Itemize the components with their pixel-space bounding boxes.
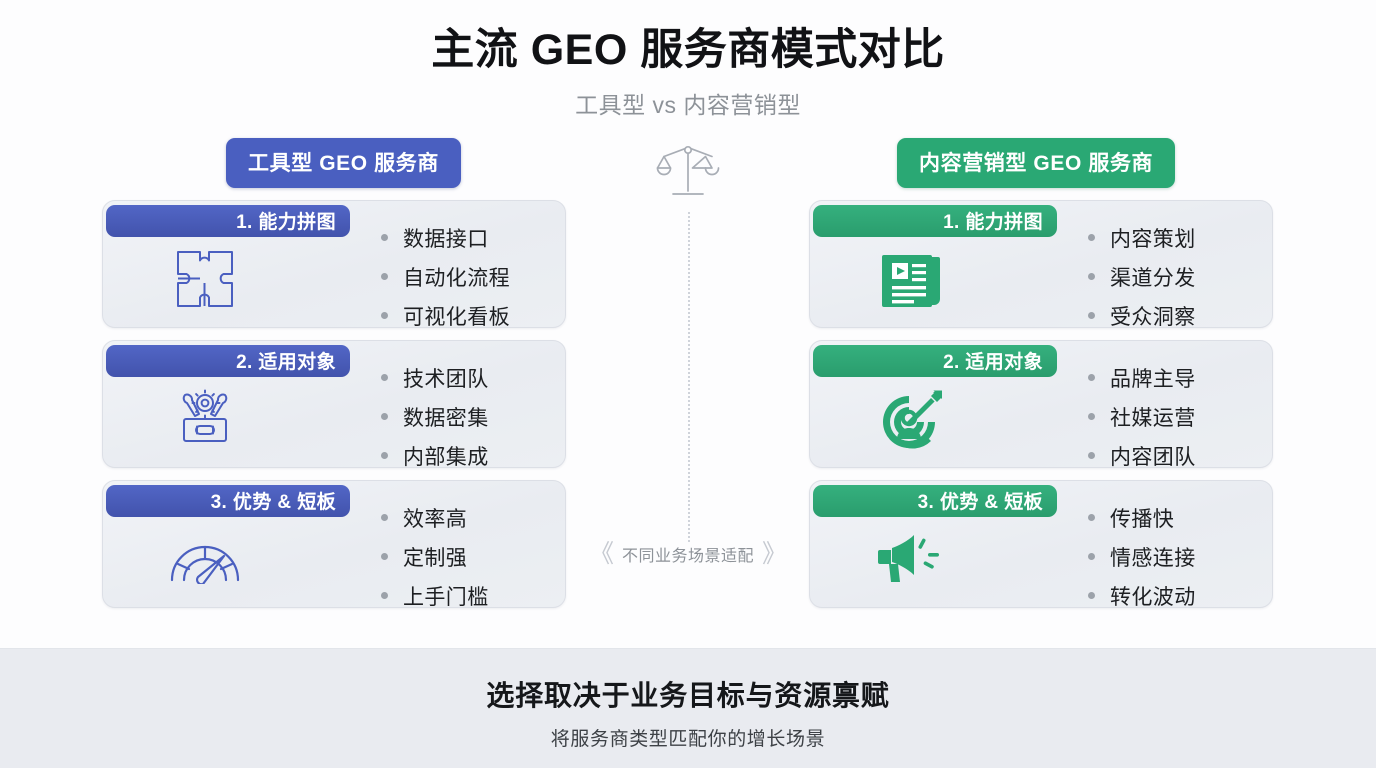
list-item: 效率高 (381, 503, 489, 533)
list-item: 内部集成 (381, 441, 489, 468)
bullet-label: 社媒运营 (1110, 402, 1196, 432)
puzzle-icon (163, 243, 247, 315)
bullet-dot-icon (1088, 514, 1095, 521)
card-heading: 1. 能力拼图 (106, 205, 350, 237)
bullet-dot-icon (1088, 592, 1095, 599)
card-bullets: 品牌主导 社媒运营 内容团队 (1088, 363, 1196, 468)
bullet-dot-icon (1088, 413, 1095, 420)
bullet-dot-icon (1088, 374, 1095, 381)
center-comparison-label: 《 不同业务场景适配 》 (589, 542, 787, 567)
bullet-label: 品牌主导 (1110, 363, 1196, 393)
card-heading: 1. 能力拼图 (813, 205, 1057, 237)
list-item: 渠道分发 (1088, 262, 1196, 292)
card-tool-capability: 1. 能力拼图 数据接口 自动化流程 (102, 200, 566, 328)
card-bullets: 传播快 情感连接 转化波动 (1088, 503, 1196, 608)
card-heading: 2. 适用对象 (813, 345, 1057, 377)
list-item: 自动化流程 (381, 262, 510, 292)
bullet-dot-icon (1088, 273, 1095, 280)
bullet-label: 传播快 (1110, 503, 1174, 533)
list-item: 品牌主导 (1088, 363, 1196, 393)
bullet-dot-icon (1088, 553, 1095, 560)
bullet-dot-icon (381, 413, 388, 420)
center-label-text: 不同业务场景适配 (622, 542, 754, 566)
bullet-label: 内容团队 (1110, 441, 1196, 468)
bullet-dot-icon (381, 234, 388, 241)
bullet-dot-icon (1088, 234, 1095, 241)
bullet-label: 上手门槛 (403, 581, 489, 608)
bullet-label: 可视化看板 (403, 301, 510, 328)
card-heading: 2. 适用对象 (106, 345, 350, 377)
target-audience-icon (870, 383, 954, 455)
bullet-label: 效率高 (403, 503, 467, 533)
list-item: 传播快 (1088, 503, 1196, 533)
column-content: 1. 能力拼图 (809, 200, 1273, 608)
bullet-dot-icon (1088, 312, 1095, 319)
bullet-dot-icon (381, 514, 388, 521)
footer-banner: 选择取决于业务目标与资源禀赋 将服务商类型匹配你的增长场景 (0, 648, 1376, 768)
footer-subtitle: 将服务商类型匹配你的增长场景 (0, 724, 1376, 751)
list-item: 上手门槛 (381, 581, 489, 608)
card-bullets: 内容策划 渠道分发 受众洞察 (1088, 223, 1196, 328)
balance-scales-icon (655, 142, 721, 207)
list-item: 内容团队 (1088, 441, 1196, 468)
bullet-label: 自动化流程 (403, 262, 510, 292)
megaphone-icon (870, 523, 954, 595)
card-heading: 3. 优势 & 短板 (813, 485, 1057, 517)
bullet-dot-icon (381, 312, 388, 319)
column-badge-content: 内容营销型 GEO 服务商 (897, 138, 1175, 188)
column-tool: 1. 能力拼图 数据接口 自动化流程 (102, 200, 566, 608)
card-tool-strengths: 3. 优势 & 短板 效率高 (102, 480, 566, 608)
bullet-label: 数据接口 (403, 223, 489, 253)
list-item: 转化波动 (1088, 581, 1196, 608)
card-content-strengths: 3. 优势 & 短板 传播快 (809, 480, 1273, 608)
bullet-dot-icon (1088, 452, 1095, 459)
list-item: 技术团队 (381, 363, 489, 393)
list-item: 数据接口 (381, 223, 510, 253)
card-bullets: 效率高 定制强 上手门槛 (381, 503, 489, 608)
bullet-label: 技术团队 (403, 363, 489, 393)
bullet-dot-icon (381, 592, 388, 599)
card-content-capability: 1. 能力拼图 (809, 200, 1273, 328)
page-title: 主流 GEO 服务商模式对比 (0, 24, 1376, 78)
chevron-right-icon: 》 (762, 542, 787, 567)
comparison-board: 《 不同业务场景适配 》 工具型 GEO 服务商 内容营销型 GEO 服务商 1… (0, 138, 1376, 618)
list-item: 定制强 (381, 542, 489, 572)
bullet-label: 内部集成 (403, 441, 489, 468)
card-bullets: 数据接口 自动化流程 可视化看板 (381, 223, 510, 328)
list-item: 内容策划 (1088, 223, 1196, 253)
article-media-play-icon (870, 243, 954, 315)
vertical-dotted-divider (688, 212, 690, 542)
page-subtitle: 工具型 vs 内容营销型 (0, 86, 1376, 120)
chevron-left-icon: 《 (589, 542, 614, 567)
bullet-label: 转化波动 (1110, 581, 1196, 608)
list-item: 可视化看板 (381, 301, 510, 328)
toolbox-gear-wrench-icon (163, 383, 247, 455)
bullet-dot-icon (381, 374, 388, 381)
list-item: 受众洞察 (1088, 301, 1196, 328)
footer-title: 选择取决于业务目标与资源禀赋 (0, 674, 1376, 714)
card-bullets: 技术团队 数据密集 内部集成 (381, 363, 489, 468)
bullet-label: 定制强 (403, 542, 467, 572)
card-tool-audience: 2. 适用对象 技术团 (102, 340, 566, 468)
bullet-label: 受众洞察 (1110, 301, 1196, 328)
bullet-dot-icon (381, 273, 388, 280)
infographic-page: 主流 GEO 服务商模式对比 工具型 vs 内容营销型 (0, 0, 1376, 768)
header: 主流 GEO 服务商模式对比 工具型 vs 内容营销型 (0, 0, 1376, 120)
bullet-label: 情感连接 (1110, 542, 1196, 572)
list-item: 情感连接 (1088, 542, 1196, 572)
list-item: 数据密集 (381, 402, 489, 432)
bullet-dot-icon (381, 553, 388, 560)
card-content-audience: 2. 适用对象 (809, 340, 1273, 468)
card-heading: 3. 优势 & 短板 (106, 485, 350, 517)
column-badge-tool: 工具型 GEO 服务商 (226, 138, 461, 188)
bullet-dot-icon (381, 452, 388, 459)
bullet-label: 数据密集 (403, 402, 489, 432)
bullet-label: 内容策划 (1110, 223, 1196, 253)
list-item: 社媒运营 (1088, 402, 1196, 432)
speedometer-gauge-icon (163, 523, 247, 595)
bullet-label: 渠道分发 (1110, 262, 1196, 292)
